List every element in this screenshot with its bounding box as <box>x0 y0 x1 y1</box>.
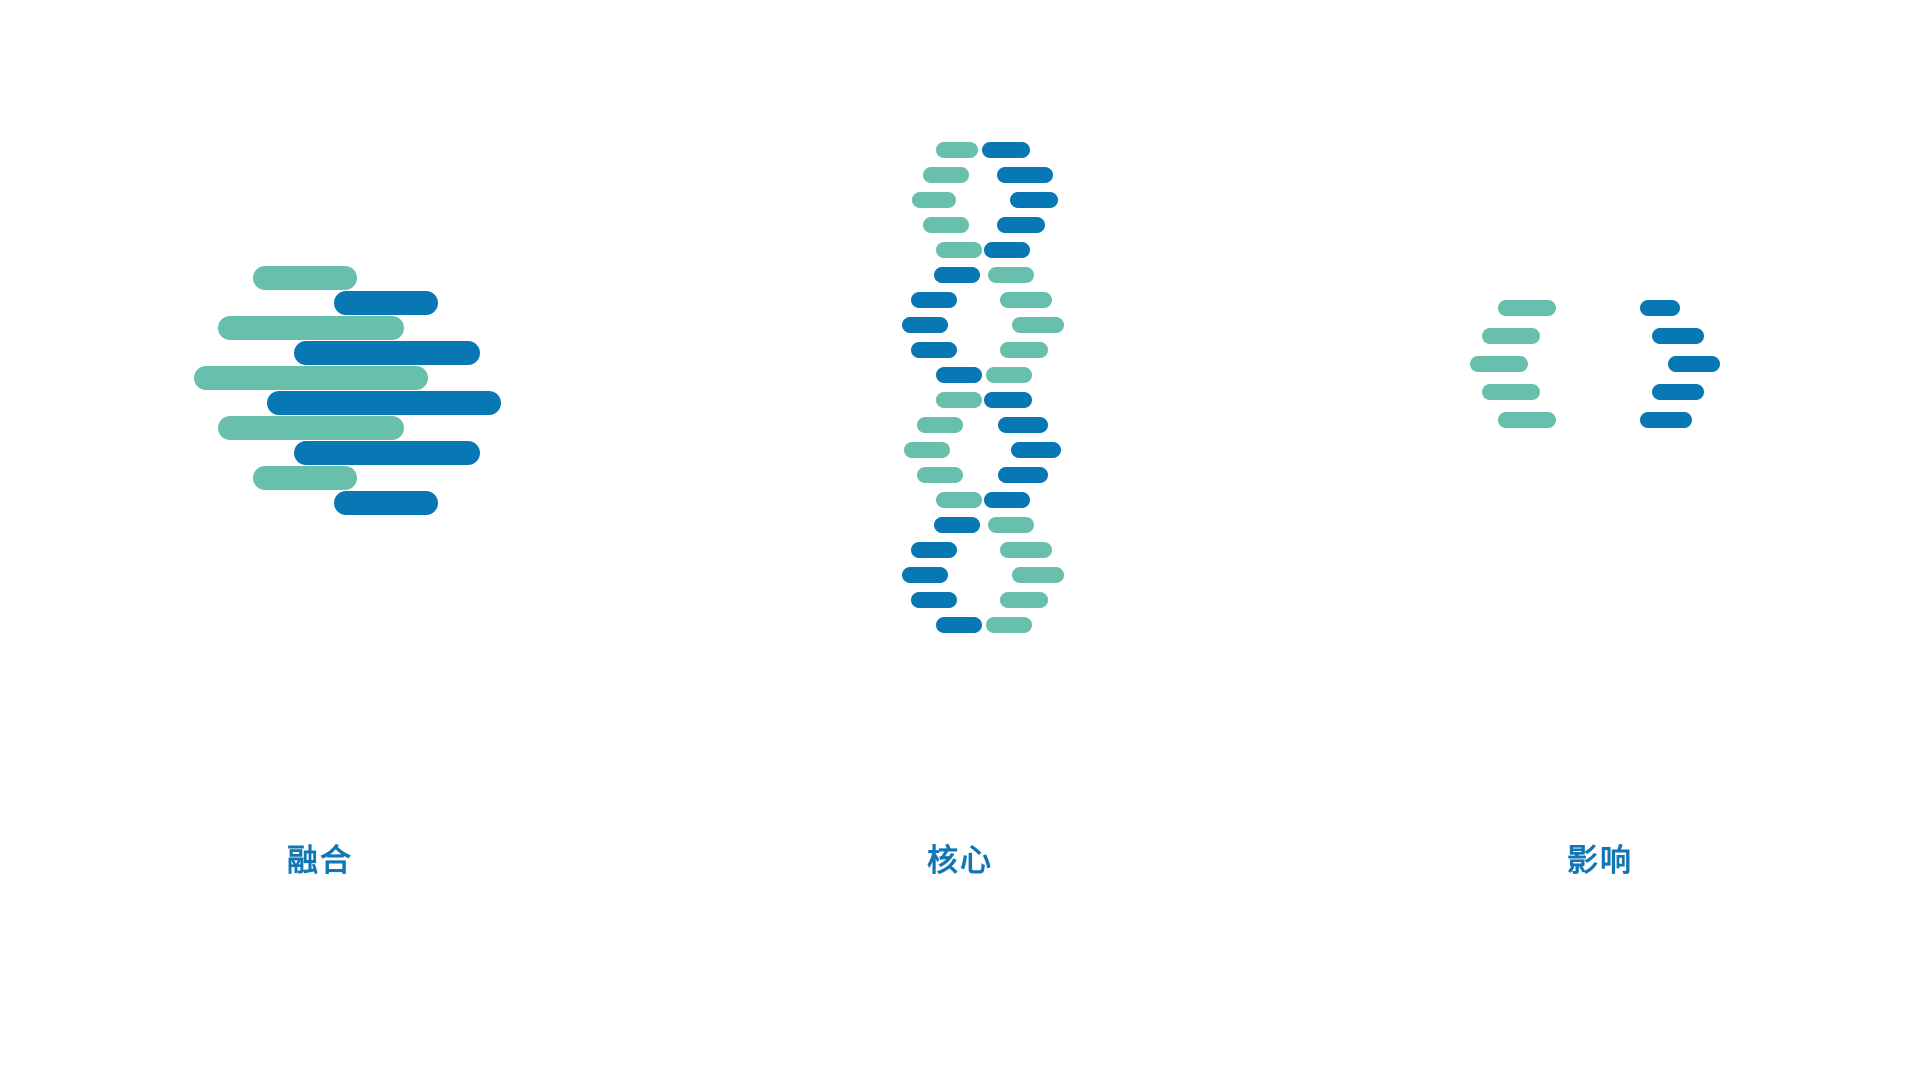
glyph-bar <box>1652 328 1704 344</box>
icon-board: 融合 核心 影响 <box>0 0 1920 1080</box>
glyph-bar <box>986 617 1032 633</box>
glyph-bar <box>1000 292 1052 308</box>
glyph-bar <box>984 392 1032 408</box>
panel-caption-impact: 影响 <box>1280 845 1920 876</box>
glyph-bar <box>294 441 480 465</box>
glyph-bar <box>986 367 1032 383</box>
glyph-bar <box>902 317 948 333</box>
impact-svg <box>1280 120 1920 680</box>
glyph-bar <box>936 392 982 408</box>
glyph-bar <box>912 192 956 208</box>
lens-bar-stack-glyph <box>0 120 640 680</box>
glyph-bar <box>1000 342 1048 358</box>
glyph-bar <box>911 342 957 358</box>
glyph-bar <box>982 142 1030 158</box>
glyph-bar <box>988 267 1034 283</box>
glyph-bar <box>936 492 982 508</box>
panel-caption-core: 核心 <box>640 845 1280 876</box>
glyph-bar <box>988 517 1034 533</box>
glyph-bar <box>936 617 982 633</box>
glyph-bar <box>1498 300 1556 316</box>
glyph-bar <box>904 442 950 458</box>
glyph-bar <box>998 467 1048 483</box>
glyph-bar <box>1010 192 1058 208</box>
glyph-bar <box>194 366 428 390</box>
glyph-bar <box>917 417 963 433</box>
glyph-bar <box>253 466 357 490</box>
glyph-bar <box>334 491 438 515</box>
fusion-svg <box>0 120 640 680</box>
panel-core[interactable]: 核心 <box>640 0 1280 1080</box>
glyph-bar <box>936 242 982 258</box>
impact-bars <box>1470 300 1720 428</box>
glyph-bar <box>936 142 978 158</box>
glyph-bar <box>1470 356 1528 372</box>
glyph-bar <box>1498 412 1556 428</box>
glyph-bar <box>218 416 404 440</box>
glyph-bar <box>1640 300 1680 316</box>
glyph-bar <box>911 292 957 308</box>
panel-impact[interactable]: 影响 <box>1280 0 1920 1080</box>
glyph-bar <box>911 592 957 608</box>
glyph-bar <box>1640 412 1692 428</box>
glyph-bar <box>936 367 982 383</box>
glyph-bar <box>934 267 980 283</box>
glyph-bar <box>1652 384 1704 400</box>
glyph-bar <box>1011 442 1061 458</box>
glyph-bar <box>1668 356 1720 372</box>
glyph-bar <box>997 167 1053 183</box>
glyph-bar <box>998 417 1048 433</box>
core-bars <box>902 142 1064 633</box>
glyph-bar <box>934 517 980 533</box>
glyph-bar <box>1012 317 1064 333</box>
core-svg <box>640 120 1280 680</box>
opposing-brackets-bar-glyph <box>1280 120 1920 680</box>
fusion-bars <box>194 266 501 515</box>
glyph-bar <box>1482 384 1540 400</box>
glyph-bar <box>902 567 948 583</box>
glyph-bar <box>1012 567 1064 583</box>
panel-caption-fusion: 融合 <box>0 845 640 876</box>
glyph-bar <box>1000 592 1048 608</box>
glyph-bar <box>1000 542 1052 558</box>
glyph-bar <box>923 217 969 233</box>
double-helix-bar-glyph <box>640 120 1280 680</box>
glyph-bar <box>294 341 480 365</box>
glyph-bar <box>997 217 1045 233</box>
glyph-bar <box>923 167 969 183</box>
glyph-bar <box>917 467 963 483</box>
glyph-bar <box>1482 328 1540 344</box>
panel-fusion[interactable]: 融合 <box>0 0 640 1080</box>
glyph-bar <box>984 242 1030 258</box>
glyph-bar <box>334 291 438 315</box>
glyph-bar <box>911 542 957 558</box>
glyph-bar <box>253 266 357 290</box>
glyph-bar <box>218 316 404 340</box>
glyph-bar <box>984 492 1030 508</box>
glyph-bar <box>267 391 501 415</box>
